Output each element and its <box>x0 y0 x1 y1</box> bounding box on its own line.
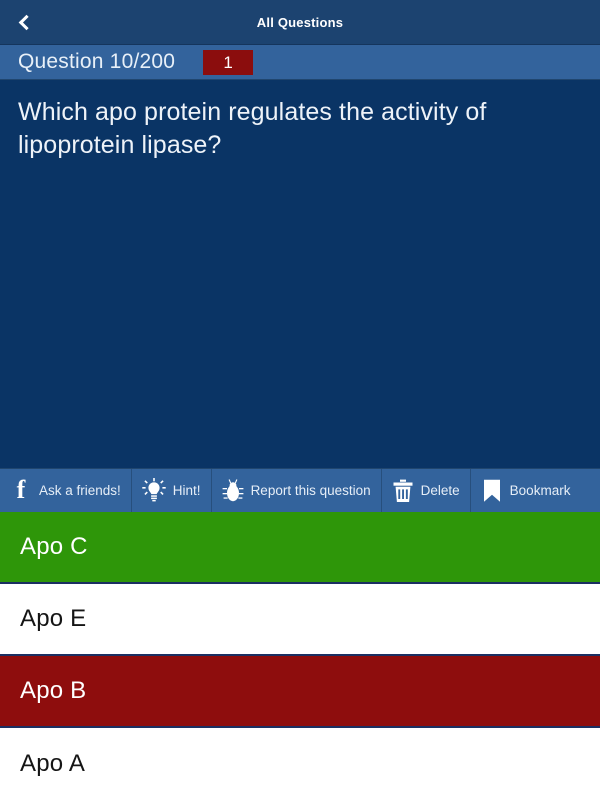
page-title: All Questions <box>0 15 600 30</box>
ask-a-friend-label: Ask a friends! <box>39 483 121 498</box>
question-text: Which apo protein regulates the activity… <box>18 96 582 161</box>
hint-label: Hint! <box>173 483 201 498</box>
delete-button[interactable]: Delete <box>382 469 471 512</box>
navigation-bar: All Questions <box>0 0 600 45</box>
question-status-bar: Question 10/200 1 <box>0 45 600 80</box>
status-badge[interactable]: 1 <box>203 50 253 75</box>
ask-a-friend-button[interactable]: f Ask a friends! <box>0 469 132 512</box>
answer-option-label: Apo E <box>20 605 86 633</box>
report-question-label: Report this question <box>251 483 371 498</box>
delete-label: Delete <box>421 483 460 498</box>
bookmark-label: Bookmark <box>510 483 571 498</box>
lightbulb-icon <box>142 478 166 504</box>
action-toolbar: f Ask a friends! <box>0 468 600 512</box>
answer-option-label: Apo C <box>20 533 88 561</box>
report-question-button[interactable]: Report this question <box>212 469 382 512</box>
bookmark-icon <box>481 478 503 504</box>
quiz-screen: All Questions Question 10/200 1 Which ap… <box>0 0 600 800</box>
answer-options-list: Apo C Apo E Apo B Apo A <box>0 512 600 800</box>
question-counter: Question 10/200 <box>18 50 175 74</box>
back-button[interactable] <box>4 0 44 45</box>
bookmark-button[interactable]: Bookmark <box>471 469 581 512</box>
answer-option-4[interactable]: Apo A <box>0 728 600 800</box>
bug-icon <box>222 478 244 504</box>
trash-icon <box>392 478 414 504</box>
question-body: Which apo protein regulates the activity… <box>0 80 600 468</box>
chevron-left-icon <box>18 15 34 31</box>
answer-option-3[interactable]: Apo B <box>0 656 600 728</box>
hint-button[interactable]: Hint! <box>132 469 212 512</box>
answer-option-label: Apo B <box>20 677 86 705</box>
facebook-icon: f <box>10 478 32 504</box>
answer-option-label: Apo A <box>20 750 85 778</box>
answer-option-2[interactable]: Apo E <box>0 584 600 656</box>
answer-option-1[interactable]: Apo C <box>0 512 600 584</box>
